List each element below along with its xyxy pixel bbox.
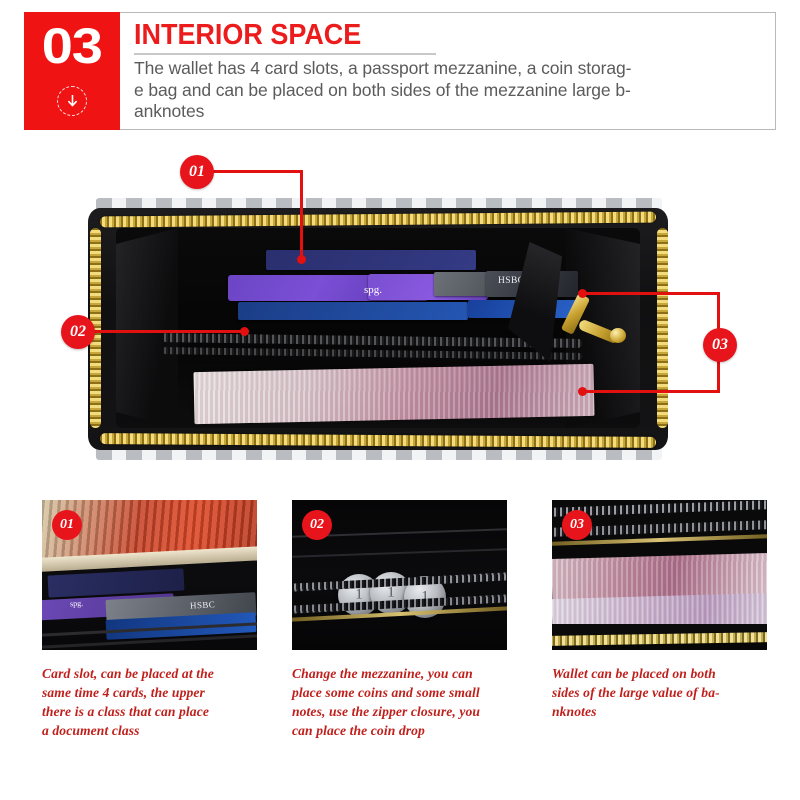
coin-face-value: 1 xyxy=(355,587,363,604)
zipper-pull-knob xyxy=(610,328,626,343)
panel-caption-03: Wallet can be placed on both sides of th… xyxy=(552,664,767,721)
zipper-right xyxy=(657,228,668,428)
banknote xyxy=(193,364,594,424)
section-header: 03 INTERIOR SPACE The wallet has 4 card … xyxy=(24,12,776,130)
callout-dot-03-upper xyxy=(578,289,587,298)
banknote-texture xyxy=(193,364,594,424)
panel-badge-label: 03 xyxy=(570,517,584,533)
header-description: The wallet has 4 card slots, a passport … xyxy=(134,58,761,123)
callout-dot-03-lower xyxy=(578,387,587,396)
callout-leader-03-upper xyxy=(583,292,720,295)
callout-badge-02: 02 xyxy=(61,315,95,349)
wallet-interior-photo: spg. HSBC xyxy=(78,198,678,460)
panel-badge-03: 03 xyxy=(562,510,592,540)
callout-leader-03-lower xyxy=(583,390,720,393)
callout-leader-02 xyxy=(92,330,247,333)
panel1-spg-label: spg. xyxy=(70,599,84,609)
header-text-box: INTERIOR SPACE The wallet has 4 card slo… xyxy=(120,12,776,130)
down-arrow-icon xyxy=(57,86,87,116)
step-badge: 03 xyxy=(24,12,120,130)
callout-label: 01 xyxy=(189,163,205,181)
coin-pocket-closeup-image: 1 1 1 02 xyxy=(292,500,507,650)
wallet-shell: spg. HSBC xyxy=(78,198,678,460)
panel-badge-02: 02 xyxy=(302,510,332,540)
detail-panel-03: 03 Wallet can be placed on both sides of… xyxy=(552,500,767,721)
interior-left-panel xyxy=(116,228,178,428)
callout-leader-01-horizontal xyxy=(210,170,303,173)
card-blue xyxy=(238,302,468,320)
callout-label: 02 xyxy=(70,323,86,341)
panel-badge-label: 01 xyxy=(60,517,74,533)
banknote-compartment-closeup-image: 03 xyxy=(552,500,767,650)
detail-panel-01: spg. HSBC 01 Card slot, can be placed at… xyxy=(42,500,257,740)
panel1-hsbc-label: HSBC xyxy=(190,599,216,610)
hero-section: spg. HSBC 01 02 xyxy=(0,140,800,480)
spg-card-label: spg. xyxy=(364,284,382,296)
panel-caption-01: Card slot, can be placed at the same tim… xyxy=(42,664,257,740)
panel-caption-02: Change the mezzanine, you can place some… xyxy=(292,664,507,740)
callout-dot-01 xyxy=(297,255,306,264)
panel-badge-label: 02 xyxy=(310,517,324,533)
step-number: 03 xyxy=(42,21,102,71)
callout-dot-02 xyxy=(240,327,249,336)
callout-label: 03 xyxy=(712,336,728,354)
callout-badge-01: 01 xyxy=(180,155,214,189)
detail-panels: spg. HSBC 01 Card slot, can be placed at… xyxy=(0,500,800,800)
callout-leader-01-vertical xyxy=(300,170,303,259)
callout-badge-03: 03 xyxy=(703,328,737,362)
detail-panel-02: 1 1 1 02 Change the mezzanine, you can p… xyxy=(292,500,507,740)
card-slot-closeup-image: spg. HSBC 01 xyxy=(42,500,257,650)
coin-pocket-zipper-lower xyxy=(162,347,582,360)
panel-badge-01: 01 xyxy=(52,510,82,540)
title-divider xyxy=(134,53,436,55)
coin-face-value: 1 xyxy=(387,585,395,602)
page-title: INTERIOR SPACE xyxy=(134,19,717,51)
